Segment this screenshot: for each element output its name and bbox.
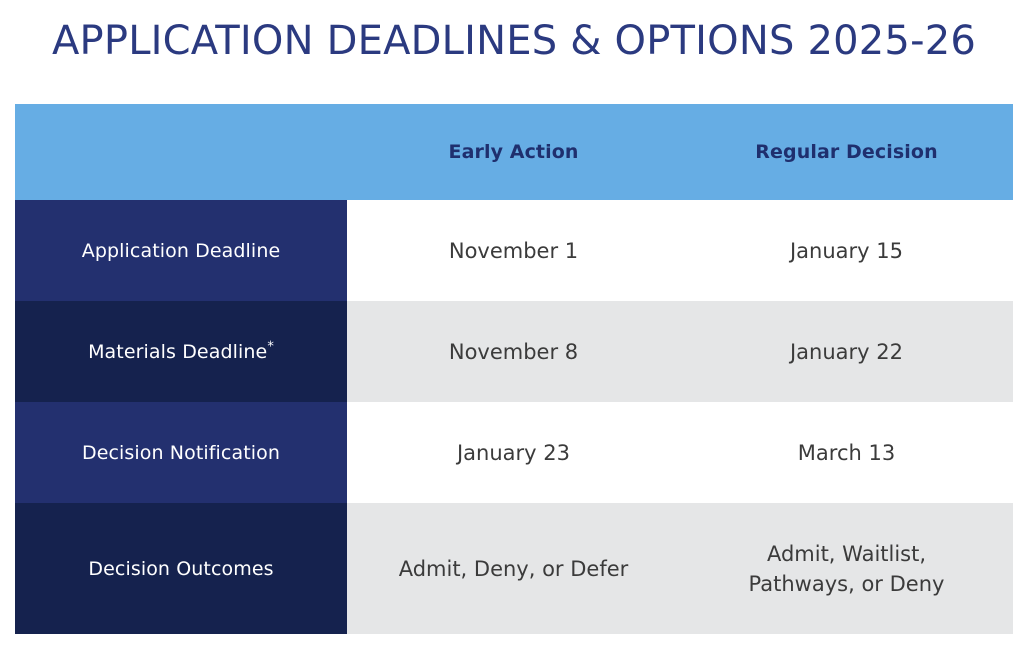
cell-line: Pathways, or Deny [681, 569, 1012, 599]
cell-early-action-application-deadline: November 1 [347, 200, 680, 301]
cell-regular-decision-materials-deadline: January 22 [680, 301, 1013, 402]
row-label-footnote-marker: * [267, 339, 274, 354]
table-row: Application Deadline November 1 January … [15, 200, 1013, 301]
cell-line: November 1 [348, 236, 679, 266]
row-label-materials-deadline: Materials Deadline* [15, 301, 347, 402]
cell-regular-decision-decision-outcomes: Admit, Waitlist, Pathways, or Deny [680, 503, 1013, 634]
table-body: Application Deadline November 1 January … [15, 200, 1013, 634]
row-label-text: Application Deadline [82, 240, 281, 262]
cell-regular-decision-decision-notification: March 13 [680, 402, 1013, 503]
header-cell-blank [15, 104, 347, 200]
cell-line: January 15 [681, 236, 1012, 266]
cell-early-action-decision-notification: January 23 [347, 402, 680, 503]
page-title: APPLICATION DEADLINES & OPTIONS 2025-26 [0, 14, 1028, 68]
table-row: Decision Notification January 23 March 1… [15, 402, 1013, 503]
row-label-application-deadline: Application Deadline [15, 200, 347, 301]
header-cell-regular-decision: Regular Decision [680, 104, 1013, 200]
table-header-row: Early Action Regular Decision [15, 104, 1013, 200]
deadlines-page: APPLICATION DEADLINES & OPTIONS 2025-26 … [0, 0, 1028, 649]
cell-line: Admit, Deny, or Defer [348, 554, 679, 584]
application-deadlines-table: Early Action Regular Decision Applicatio… [15, 104, 1013, 634]
cell-line: Admit, Waitlist, [681, 539, 1012, 569]
cell-early-action-decision-outcomes: Admit, Deny, or Defer [347, 503, 680, 634]
header-cell-early-action: Early Action [347, 104, 680, 200]
row-label-decision-outcomes: Decision Outcomes [15, 503, 347, 634]
cell-line: January 22 [681, 337, 1012, 367]
cell-regular-decision-application-deadline: January 15 [680, 200, 1013, 301]
row-label-text: Materials Deadline [88, 341, 267, 363]
row-label-decision-notification: Decision Notification [15, 402, 347, 503]
table-header: Early Action Regular Decision [15, 104, 1013, 200]
cell-early-action-materials-deadline: November 8 [347, 301, 680, 402]
row-label-text: Decision Notification [82, 442, 280, 464]
table-row: Materials Deadline* November 8 January 2… [15, 301, 1013, 402]
cell-line: March 13 [681, 438, 1012, 468]
cell-line: January 23 [348, 438, 679, 468]
table-row: Decision Outcomes Admit, Deny, or Defer … [15, 503, 1013, 634]
cell-line: November 8 [348, 337, 679, 367]
row-label-text: Decision Outcomes [88, 558, 273, 580]
